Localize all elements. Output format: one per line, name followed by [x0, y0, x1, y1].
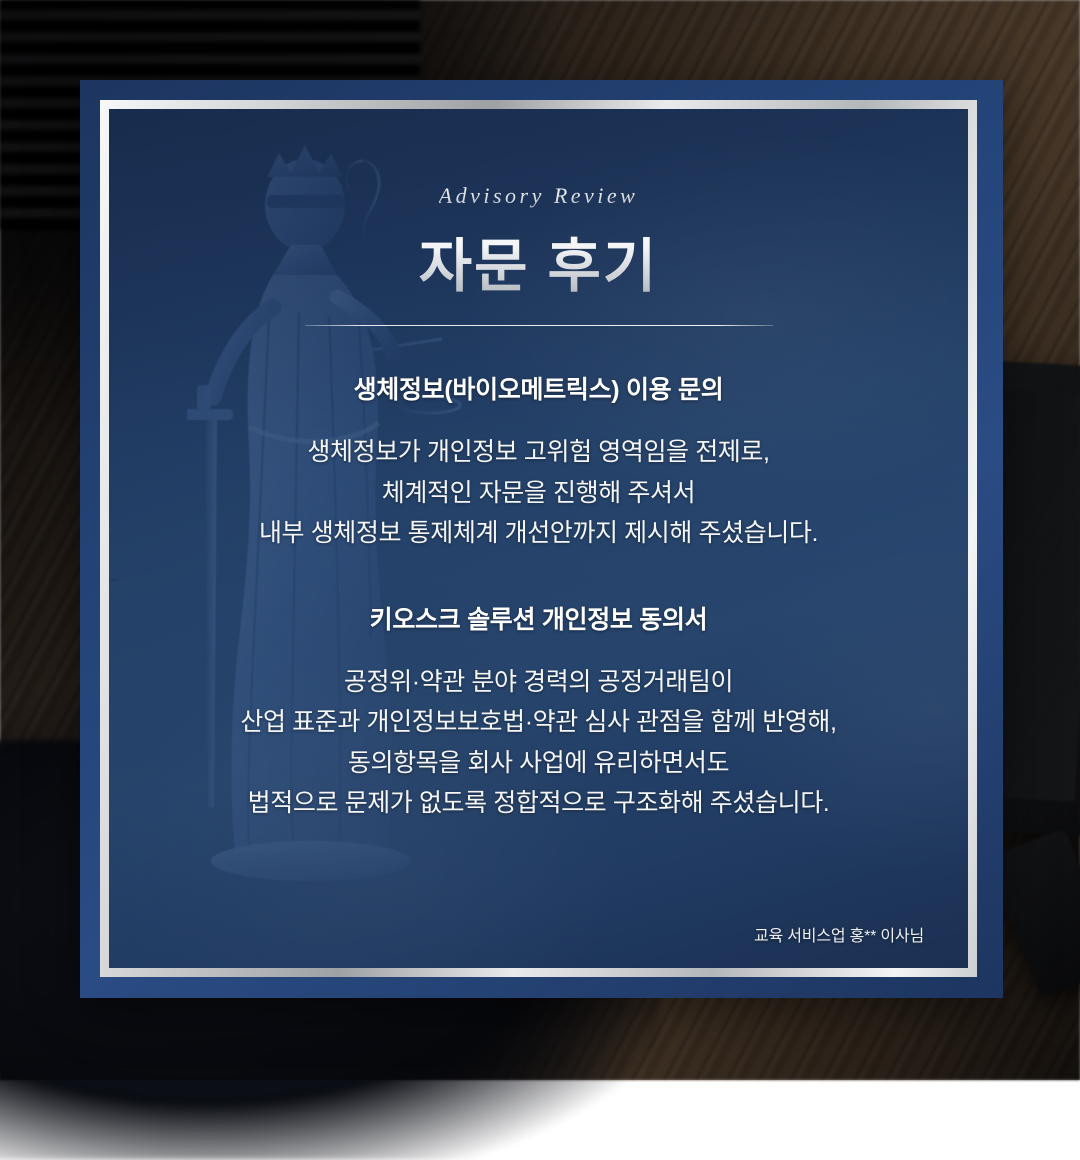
title-divider [305, 325, 773, 326]
review-line: 동의항목을 회사 사업에 유리하면서도 [109, 743, 968, 784]
review-body: 공정위·약관 분야 경력의 공정거래팀이 산업 표준과 개인정보보호법·약관 심… [109, 662, 968, 824]
review-line: 체계적인 자문을 진행해 주셔서 [109, 473, 968, 514]
review-heading: 생체정보(바이오메트릭스) 이용 문의 [109, 370, 968, 406]
review-heading: 키오스크 솔루션 개인정보 동의서 [109, 600, 968, 636]
review-line: 생체정보가 개인정보 고위험 영역임을 전제로, [109, 432, 968, 473]
attribution-text: 교육 서비스업 홍** 이사님 [754, 922, 924, 946]
card-text-stack: Advisory Review 자문 후기 생체정보(바이오메트릭스) 이용 문… [109, 109, 968, 968]
silver-frame-border: Advisory Review 자문 후기 생체정보(바이오메트릭스) 이용 문… [100, 100, 977, 977]
review-body: 생체정보가 개인정보 고위험 영역임을 전제로, 체계적인 자문을 진행해 주셔… [109, 432, 968, 554]
review-line: 내부 생체정보 통제체계 개선안까지 제시해 주셨습니다. [109, 513, 968, 554]
review-line: 산업 표준과 개인정보보호법·약관 심사 관점을 함께 반영해, [109, 702, 968, 743]
review-block: 생체정보(바이오메트릭스) 이용 문의 생체정보가 개인정보 고위험 영역임을 … [109, 370, 968, 554]
review-block: 키오스크 솔루션 개인정보 동의서 공정위·약관 분야 경력의 공정거래팀이 산… [109, 600, 968, 824]
page-title: 자문 후기 [419, 219, 659, 303]
review-line: 법적으로 문제가 없도록 정합적으로 구조화해 주셨습니다. [109, 783, 968, 824]
review-line: 공정위·약관 분야 경력의 공정거래팀이 [109, 662, 968, 703]
eyebrow-label: Advisory Review [439, 183, 639, 209]
card-content-area: Advisory Review 자문 후기 생체정보(바이오메트릭스) 이용 문… [109, 109, 968, 968]
review-card: Advisory Review 자문 후기 생체정보(바이오메트릭스) 이용 문… [80, 80, 1003, 998]
